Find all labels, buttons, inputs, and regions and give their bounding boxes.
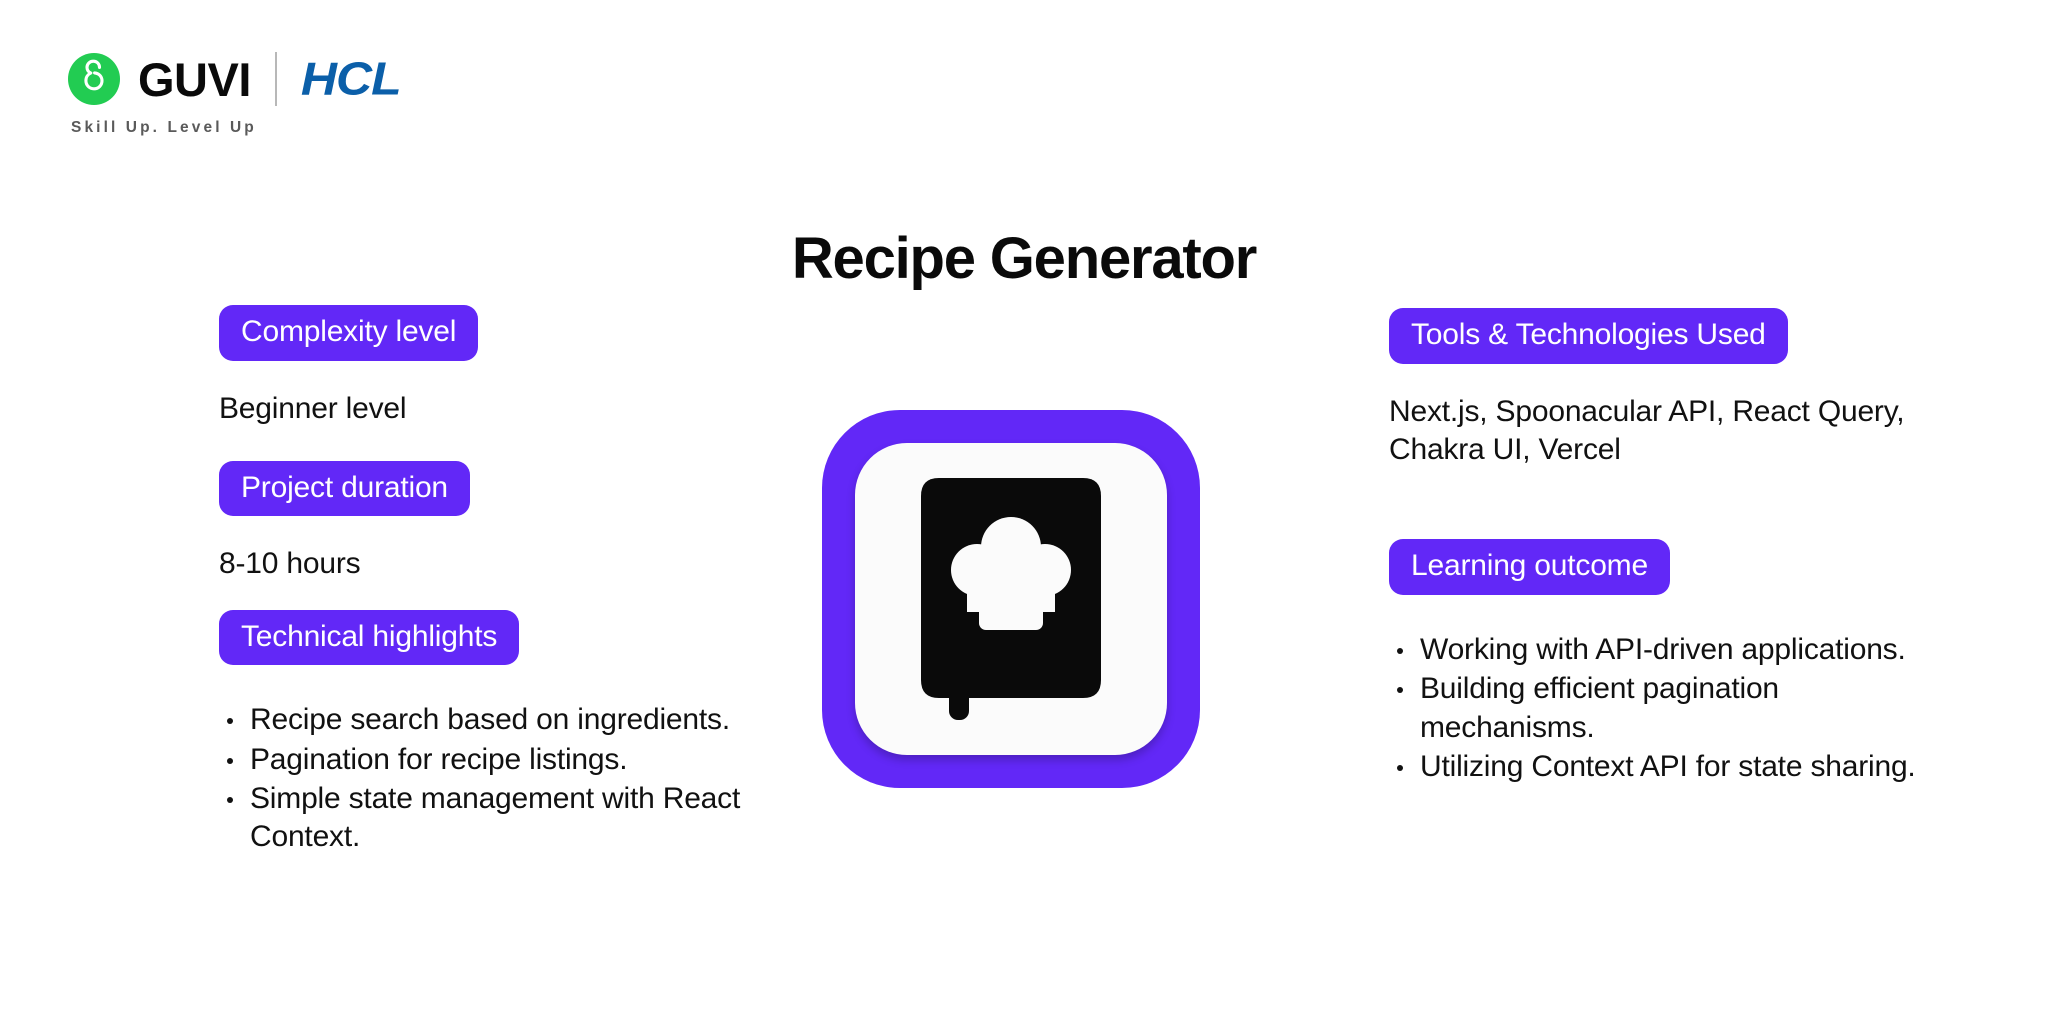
right-column: Tools & Technologies Used Next.js, Spoon… [1389, 308, 1949, 787]
badge-complexity-level: Complexity level [219, 305, 478, 361]
hcl-wordmark: HCL [301, 56, 401, 102]
recipe-book-glyph [911, 474, 1111, 724]
list-item: Recipe search based on ingredients. [219, 701, 779, 739]
badge-technical-highlights: Technical highlights [219, 610, 519, 666]
recipe-book-icon [822, 410, 1200, 788]
tools-technologies-value: Next.js, Spoonacular API, React Query, C… [1389, 393, 1949, 470]
guvi-wordmark: GUVI [138, 56, 251, 103]
page-title: Recipe Generator [0, 225, 2048, 292]
badge-learning-outcome: Learning outcome [1389, 539, 1670, 595]
list-item: Utilizing Context API for state sharing. [1389, 748, 1949, 786]
badge-tools-technologies: Tools & Technologies Used [1389, 308, 1788, 364]
list-item: Pagination for recipe listings. [219, 741, 779, 779]
logo-row: GUVI HCL [68, 52, 401, 106]
technical-highlights-list: Recipe search based on ingredients. Pagi… [219, 701, 779, 857]
list-item: Simple state management with React Conte… [219, 780, 779, 857]
left-column: Complexity level Beginner level Project … [219, 305, 779, 858]
guvi-g-logo-icon [68, 53, 120, 105]
brand-logo-bar: GUVI HCL Skill Up. Level Up [68, 52, 401, 137]
learning-outcome-list: Working with API-driven applications. Bu… [1389, 631, 1949, 787]
brand-tagline: Skill Up. Level Up [71, 119, 257, 137]
list-item: Working with API-driven applications. [1389, 631, 1949, 669]
badge-project-duration: Project duration [219, 461, 470, 517]
logo-separator [275, 52, 277, 106]
list-item: Building efficient pagination mechanisms… [1389, 670, 1949, 747]
complexity-level-value: Beginner level [219, 390, 779, 428]
project-duration-value: 8-10 hours [219, 545, 779, 583]
